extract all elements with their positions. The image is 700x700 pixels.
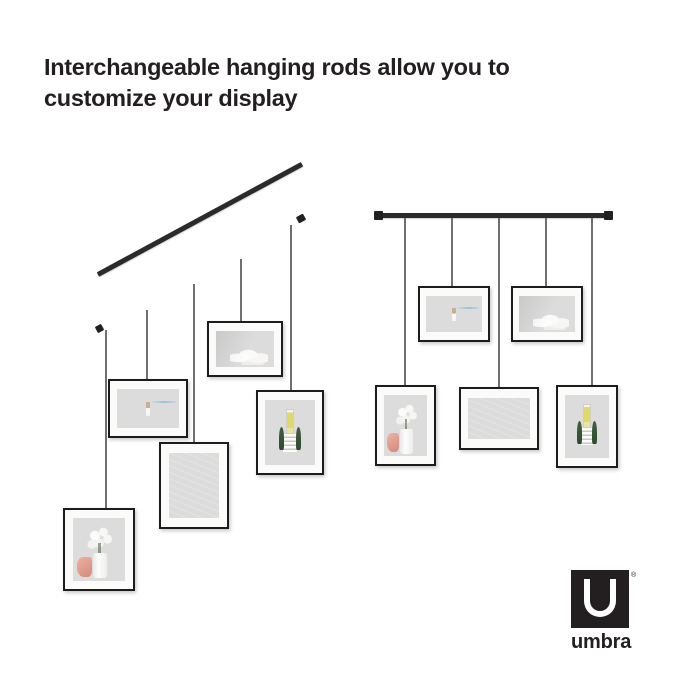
frame-mat	[420, 288, 487, 339]
photo-green-palm-fronds	[468, 398, 530, 440]
hanging-wire	[591, 218, 593, 386]
registered-trademark-symbol: ®	[631, 572, 636, 579]
frame-mat	[65, 510, 132, 588]
frame-mat	[110, 381, 185, 435]
product-feature-image: Interchangeable hanging rods allow you t…	[0, 0, 700, 700]
frame-mat	[513, 288, 580, 339]
umbra-logo-mark: ®	[571, 570, 629, 628]
picture-frame[interactable]	[256, 390, 324, 475]
photo-white-house-yellow-door-cypress	[265, 400, 314, 464]
hanging-wire	[451, 218, 453, 288]
photo-hand-holding-potted-babys-breath	[73, 518, 125, 581]
photo-green-palm-fronds	[169, 453, 220, 519]
photo-white-house-yellow-door-cypress	[565, 395, 610, 458]
picture-frame[interactable]	[418, 286, 490, 342]
rod-end-cap-right	[604, 211, 613, 220]
u-letterform-icon	[584, 579, 616, 617]
frame-mat	[558, 387, 615, 465]
hanging-wire	[404, 218, 406, 388]
picture-frame[interactable]	[159, 442, 229, 529]
page-title: Interchangeable hanging rods allow you t…	[44, 52, 564, 115]
photo-hand-holding-potted-babys-breath	[384, 395, 428, 456]
picture-frame[interactable]	[556, 385, 618, 468]
picture-frame[interactable]	[63, 508, 135, 591]
photo-white-rocks-greyscale	[216, 331, 274, 368]
photo-person-standing-in-grass-field	[117, 389, 179, 428]
picture-frame[interactable]	[459, 387, 539, 450]
umbra-wordmark: umbra	[571, 632, 631, 652]
picture-frame[interactable]	[207, 321, 283, 377]
photo-white-rocks-greyscale	[519, 296, 574, 333]
umbra-logo: ® umbra	[571, 570, 631, 652]
frame-mat	[258, 392, 321, 472]
frame-mat	[209, 323, 280, 374]
frame-mat	[461, 389, 536, 447]
hanging-rod-horizontal[interactable]	[376, 213, 611, 218]
frame-mat	[161, 444, 226, 526]
hanging-wire	[545, 218, 547, 288]
hanging-wire	[240, 259, 242, 322]
rod-end-cap-left	[95, 324, 104, 333]
hanging-rod-diagonal[interactable]	[97, 162, 304, 277]
hanging-wire	[290, 225, 292, 390]
frame-mat	[377, 387, 433, 463]
rod-end-cap-left	[374, 211, 383, 220]
hanging-wire	[193, 284, 195, 442]
picture-frame[interactable]	[108, 379, 188, 438]
photo-person-standing-in-grass-field	[426, 296, 481, 333]
picture-frame[interactable]	[375, 385, 436, 466]
hanging-wire	[105, 330, 107, 510]
rod-end-cap-right	[296, 214, 306, 224]
headline-line-2: customize your display	[44, 83, 564, 114]
hanging-wire	[498, 218, 500, 388]
headline-line-1: Interchangeable hanging rods allow you t…	[44, 52, 564, 83]
picture-frame[interactable]	[511, 286, 583, 342]
